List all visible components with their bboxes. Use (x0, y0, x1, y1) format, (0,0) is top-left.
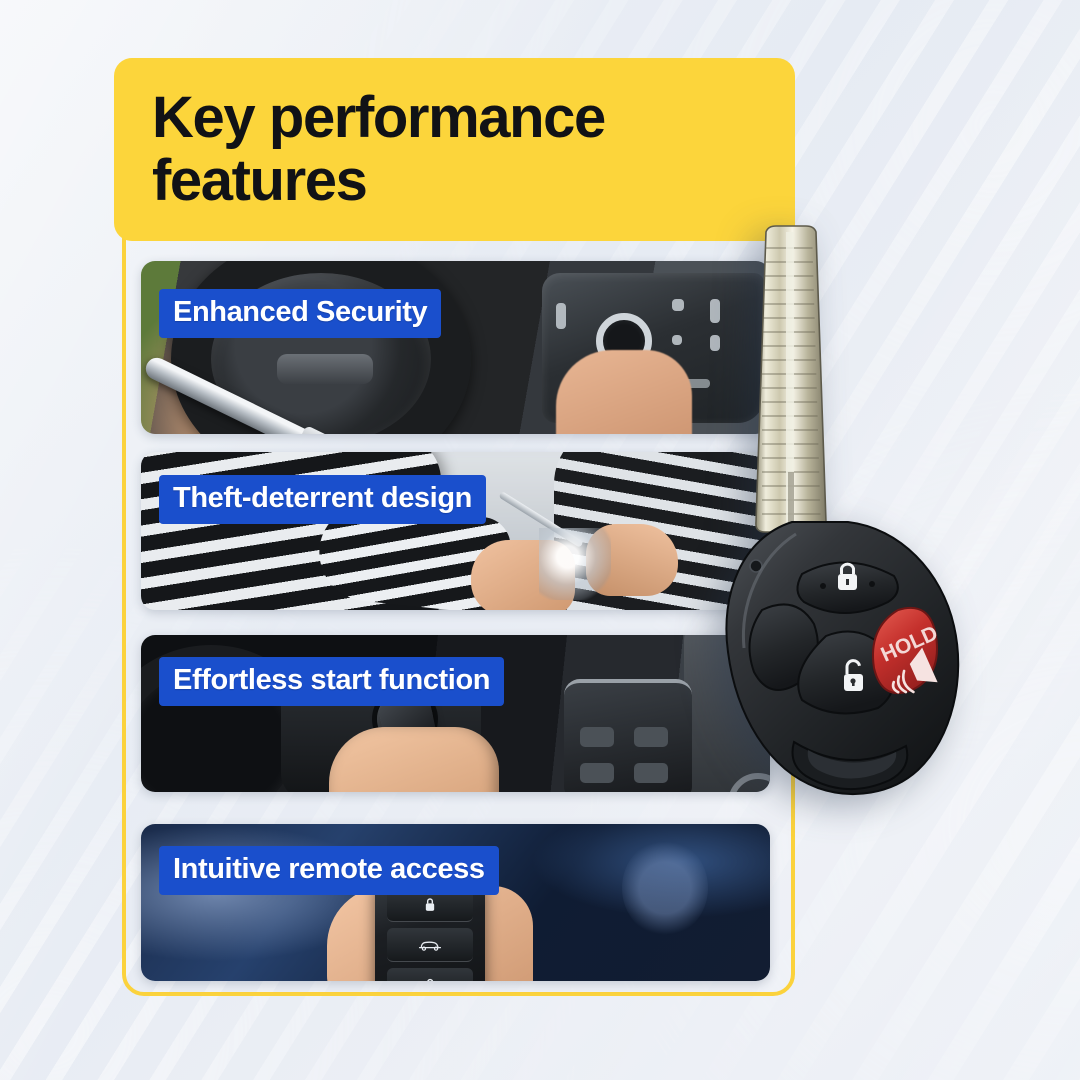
console-knob (672, 335, 682, 345)
dash-button (580, 727, 614, 747)
open-padlock-icon (417, 975, 443, 982)
dashboard-button-panel (564, 679, 692, 792)
page-title: Key performance features (114, 87, 605, 212)
driver-hand (556, 350, 692, 434)
console-knob (672, 299, 684, 311)
poster-canvas: Key performance features Enhanced Securi… (0, 0, 1080, 1080)
console-knob (710, 299, 720, 323)
padlock-icon (417, 895, 443, 915)
lock-button (797, 562, 897, 613)
feature-photo-steering-wheel-lock (141, 261, 770, 434)
lens-glow (622, 840, 708, 936)
feature-label-1: Enhanced Security (159, 289, 441, 338)
feature-row-intuitive-remote-access[interactable]: Intuitive remote access (141, 824, 770, 981)
feature-label-3: Effortless start function (159, 657, 504, 706)
console-knob (556, 303, 566, 329)
console-knob (710, 335, 720, 351)
header-banner: Key performance features (114, 58, 795, 241)
car-icon (417, 935, 443, 955)
key-blade (756, 226, 828, 534)
key-bunch-highlight (539, 528, 611, 600)
dash-button (634, 727, 668, 747)
feature-row-enhanced-security[interactable]: Enhanced Security (141, 261, 770, 434)
fob-trunk-button (387, 928, 473, 962)
driver-hand (329, 727, 499, 792)
dash-button (634, 763, 668, 783)
dash-button (580, 763, 614, 783)
key-head-body: HOLD (726, 522, 958, 794)
feature-label-4: Intuitive remote access (159, 846, 499, 895)
feature-row-effortless-start-function[interactable]: Effortless start function (141, 635, 770, 792)
car-remote-head-key: HOLD (722, 222, 972, 812)
fob-unlock-button (387, 968, 473, 981)
feature-row-theft-deterrent-design[interactable]: Theft-deterrent design (141, 452, 770, 610)
feature-label-2: Theft-deterrent design (159, 475, 486, 524)
